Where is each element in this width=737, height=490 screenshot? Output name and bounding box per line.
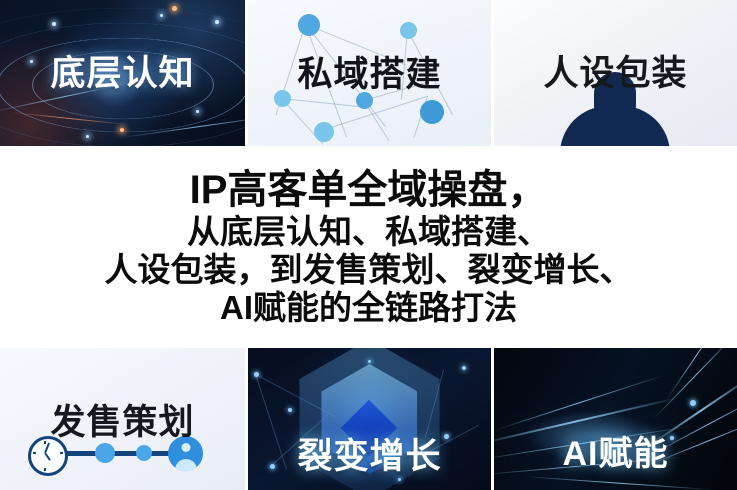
light-beam-icon bbox=[654, 348, 737, 419]
panel-label-persona: 人设包装 bbox=[494, 45, 737, 96]
particle-dot-icon bbox=[120, 128, 124, 132]
panel-label-private-domain: 私域搭建 bbox=[248, 46, 491, 97]
panel-label-cognition: 底层认知 bbox=[0, 45, 245, 96]
network-node-icon bbox=[420, 100, 444, 124]
headline-line-4: AI赋能的全链路打法 bbox=[220, 291, 517, 324]
network-node-icon bbox=[298, 14, 320, 36]
particle-dot-icon bbox=[288, 408, 292, 412]
panel-cognition[interactable]: 底层认知 bbox=[0, 0, 245, 146]
particle-dot-icon bbox=[368, 360, 371, 363]
panel-persona[interactable]: 人设包装 bbox=[494, 0, 737, 146]
top-panel-row: 底层认知 私域搭建 bbox=[0, 0, 737, 146]
headline-line-1: IP高客单全域操盘， bbox=[190, 170, 548, 210]
poster-canvas: 底层认知 私域搭建 bbox=[0, 0, 737, 490]
particle-dot-icon bbox=[160, 14, 163, 17]
network-edge-icon bbox=[282, 98, 366, 108]
particle-dot-icon bbox=[215, 20, 219, 24]
timeline-node-icon bbox=[95, 443, 115, 463]
particle-dot-icon bbox=[172, 6, 177, 11]
particle-dot-icon bbox=[86, 135, 89, 138]
particle-dot-icon bbox=[690, 400, 696, 406]
panel-label-fission-growth: 裂变增长 bbox=[248, 428, 491, 479]
timeline-node-icon bbox=[136, 445, 152, 461]
panel-launch-plan[interactable]: 发售策划 bbox=[0, 348, 245, 490]
particle-dot-icon bbox=[52, 22, 56, 26]
network-node-icon bbox=[314, 122, 334, 142]
network-node-icon bbox=[400, 22, 417, 39]
panel-label-ai-empowerment: AI赋能 bbox=[494, 426, 737, 475]
headline-line-3: 人设包装，到发售策划、裂变增长、 bbox=[105, 253, 633, 286]
panel-ai-empowerment[interactable]: AI赋能 bbox=[494, 348, 737, 490]
panel-fission-growth[interactable]: 裂变增长 bbox=[248, 348, 491, 490]
light-beam-icon bbox=[524, 476, 714, 490]
particle-dot-icon bbox=[254, 372, 259, 377]
particle-dot-icon bbox=[462, 366, 466, 370]
light-beam-icon bbox=[494, 374, 665, 431]
bottom-panel-row: 发售策划 裂变增长 bbox=[0, 348, 737, 490]
particle-dot-icon bbox=[196, 110, 199, 113]
timeline-track-icon bbox=[54, 451, 180, 456]
panel-label-launch-plan: 发售策划 bbox=[0, 394, 245, 445]
headline-line-2: 从底层认知、私域搭建、 bbox=[187, 215, 550, 248]
headline-block: IP高客单全域操盘， 从底层认知、私域搭建、 人设包装，到发售策划、裂变增长、 … bbox=[0, 146, 737, 348]
panel-private-domain[interactable]: 私域搭建 bbox=[248, 0, 491, 146]
